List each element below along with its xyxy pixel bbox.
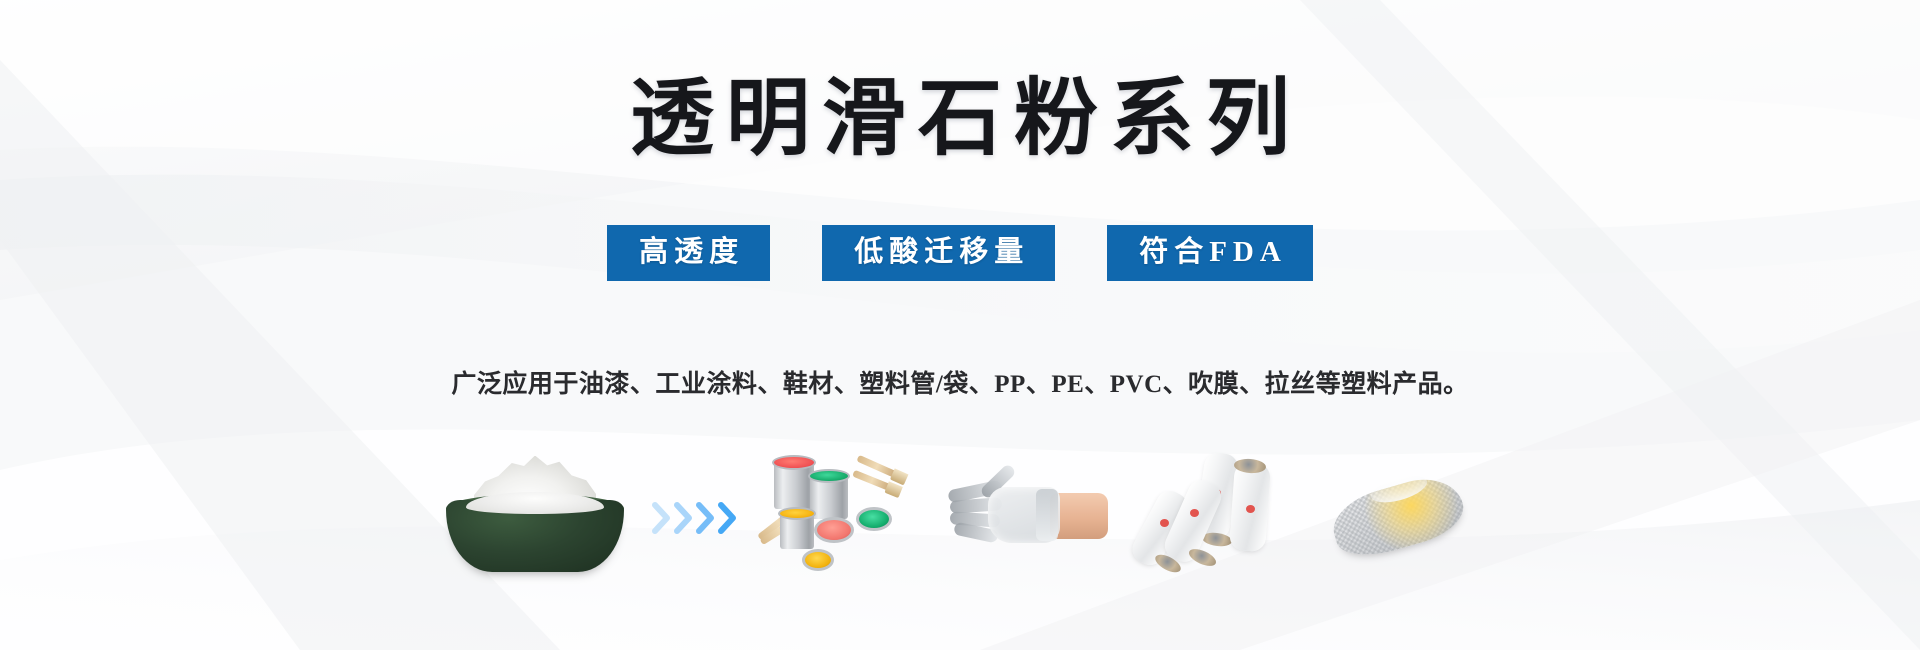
product-banner: 透明滑石粉系列 高透度 低酸迁移量 符合FDA 广泛应用于油漆、工业涂料、鞋材、… xyxy=(0,0,1920,650)
film-rolls-image xyxy=(1120,425,1305,610)
talc-powder-bowl-image xyxy=(430,425,640,610)
paint-lid-green-loose xyxy=(856,507,892,531)
paint-lid-yellow-loose xyxy=(802,549,834,571)
paint-lid-pink-loose xyxy=(814,517,854,543)
chevron-right-icon xyxy=(652,501,672,535)
badge-low-acid-migration[interactable]: 低酸迁移量 xyxy=(822,225,1055,281)
chevron-group xyxy=(652,501,738,535)
product-application-strip xyxy=(0,425,1920,610)
feature-badges: 高透度 低酸迁移量 符合FDA xyxy=(0,225,1920,281)
roll-group xyxy=(1128,453,1298,583)
paint-cans-image xyxy=(750,425,935,610)
hand-graphic xyxy=(948,463,1108,573)
roll-logo-dot xyxy=(1160,519,1169,527)
paint-lid-yellow xyxy=(778,507,816,520)
roll-logo-dot xyxy=(1190,509,1199,517)
gloved-hand-image xyxy=(935,425,1120,610)
process-arrows-icon xyxy=(640,425,750,610)
paint-lid-green xyxy=(808,469,850,483)
glove-cuff xyxy=(1036,489,1058,541)
shoe-sole-image xyxy=(1305,425,1490,610)
chevron-right-icon xyxy=(696,501,716,535)
paint-lid-red xyxy=(772,455,816,470)
badge-high-transparency[interactable]: 高透度 xyxy=(607,225,770,281)
roll-logo-dot xyxy=(1246,505,1255,513)
chevron-right-icon xyxy=(674,501,694,535)
sole-graphic xyxy=(1332,472,1464,564)
page-title: 透明滑石粉系列 xyxy=(0,78,1920,162)
roll-core xyxy=(1186,545,1218,569)
chevron-right-icon xyxy=(718,501,738,535)
bowl-graphic xyxy=(440,458,630,578)
paint-group xyxy=(758,453,928,583)
application-description: 广泛应用于油漆、工业涂料、鞋材、塑料管/袋、PP、PE、PVC、吹膜、拉丝等塑料… xyxy=(0,364,1920,400)
badge-fda-compliant[interactable]: 符合FDA xyxy=(1107,225,1313,281)
